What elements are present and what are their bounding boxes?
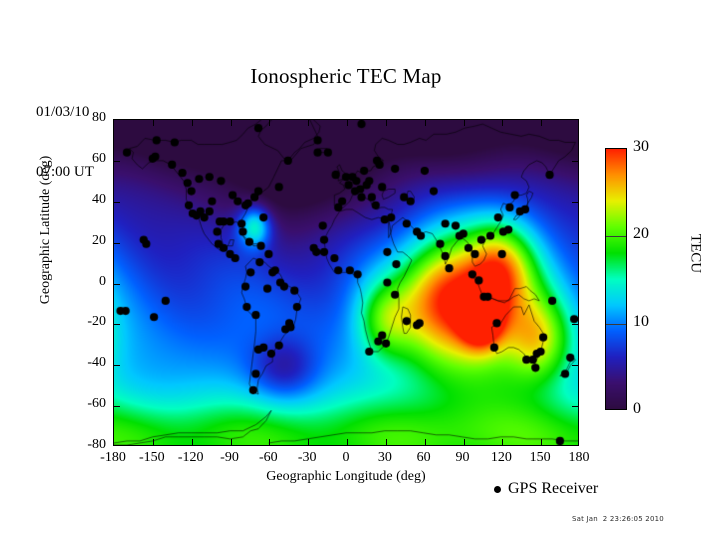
x-tick: [347, 439, 348, 445]
y-tick-right: [572, 324, 578, 325]
y-tick-label: 80: [68, 110, 106, 126]
legend-label: GPS Receiver: [508, 480, 598, 498]
x-tick-top: [347, 120, 348, 126]
y-tick-right: [572, 243, 578, 244]
x-tick-top: [308, 120, 309, 126]
x-tick-top: [425, 120, 426, 126]
x-tick-top: [231, 120, 232, 126]
page-title: Ionospheric TEC Map: [113, 64, 579, 89]
y-tick: [114, 243, 120, 244]
y-tick: [114, 406, 120, 407]
y-tick: [114, 365, 120, 366]
x-tick: [464, 439, 465, 445]
legend: GPS Receiver: [494, 480, 598, 498]
x-tick-top: [269, 120, 270, 126]
x-tick: [231, 439, 232, 445]
y-tick-label: -20: [68, 314, 106, 330]
x-tick: [153, 439, 154, 445]
y-tick-label: -60: [68, 396, 106, 412]
tec-heatmap-canvas: [114, 120, 578, 445]
y-tick: [114, 161, 120, 162]
x-tick: [269, 439, 270, 445]
y-tick: [114, 202, 120, 203]
y-tick-right: [572, 202, 578, 203]
colorbar-tick: [606, 236, 626, 237]
x-tick-top: [153, 120, 154, 126]
y-tick-label: 0: [68, 274, 106, 290]
y-axis-label: Geographic Latitude (deg): [38, 130, 54, 330]
x-tick: [386, 439, 387, 445]
colorbar-tick-label: 20: [633, 225, 649, 243]
colorbar-gradient: [606, 149, 626, 409]
filled-circle-icon: [494, 486, 501, 493]
y-tick-label: -40: [68, 355, 106, 371]
y-tick-label: 60: [68, 151, 106, 167]
y-tick: [114, 284, 120, 285]
x-tick-top: [386, 120, 387, 126]
colorbar-tick-label: 10: [633, 313, 649, 331]
x-tick-top: [464, 120, 465, 126]
x-tick-label: 180: [549, 450, 609, 466]
generated-timestamp: Sat Jan 2 23:26:05 2010: [572, 515, 664, 523]
x-tick: [192, 439, 193, 445]
y-tick-label: -80: [68, 437, 106, 453]
colorbar-tick: [606, 324, 626, 325]
y-tick-right: [572, 406, 578, 407]
x-tick-top: [541, 120, 542, 126]
colorbar-tick-label: 30: [633, 138, 649, 156]
x-tick: [541, 439, 542, 445]
x-tick-top: [502, 120, 503, 126]
x-tick: [502, 439, 503, 445]
colorbar-tick-label: 0: [633, 400, 641, 418]
y-tick-right: [572, 161, 578, 162]
x-tick-top: [192, 120, 193, 126]
tec-map-plot: [113, 119, 579, 446]
y-tick-label: 20: [68, 233, 106, 249]
x-tick: [425, 439, 426, 445]
y-tick: [114, 324, 120, 325]
y-tick-label: 40: [68, 192, 106, 208]
y-tick-right: [572, 284, 578, 285]
colorbar-title: TECU: [687, 204, 704, 304]
y-tick-right: [572, 365, 578, 366]
colorbar: [605, 148, 627, 410]
x-tick: [308, 439, 309, 445]
